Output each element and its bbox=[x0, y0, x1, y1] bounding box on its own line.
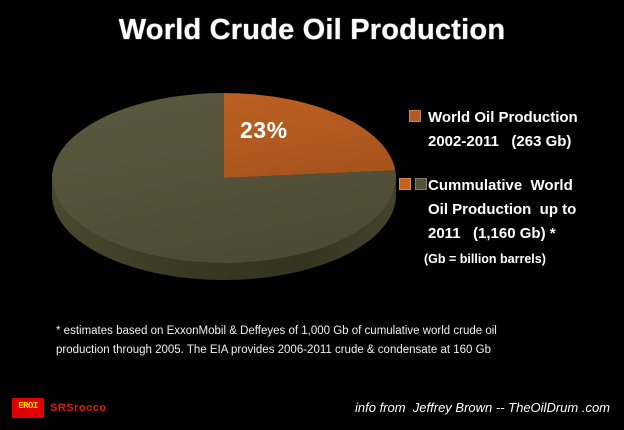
legend-swatch-olive-icon bbox=[415, 178, 427, 190]
legend-item-cumulative-world-oil-production[interactable]: Cummulative World Oil Production up to 2… bbox=[398, 174, 620, 246]
legend-line-1: Cummulative World bbox=[428, 174, 620, 198]
footnote-line-1: * estimates based on ExxonMobil & Deffey… bbox=[56, 322, 596, 341]
legend-line-2: Oil Production up to bbox=[428, 198, 620, 222]
bottom-bar: EROI SRSrocco info from Jeffrey Brown --… bbox=[0, 390, 624, 430]
logo-glyph-text: EROI bbox=[12, 402, 44, 411]
usa-map-icon: EROI bbox=[12, 398, 44, 418]
legend-item-label: World Oil Production 2002-2011 (263 Gb) bbox=[428, 106, 620, 154]
legend-item-label: Cummulative World Oil Production up to 2… bbox=[428, 174, 620, 246]
logo-wordmark: SRSrocco bbox=[50, 402, 107, 414]
legend-swatch-orange-icon bbox=[399, 178, 411, 190]
pie-chart-svg bbox=[40, 78, 410, 308]
legend-line-3: 2011 (1,160 Gb) * bbox=[428, 222, 620, 246]
footnote-line-2: production through 2005. The EIA provide… bbox=[56, 341, 596, 360]
pie-chart bbox=[40, 78, 410, 308]
srsrocco-logo[interactable]: EROI SRSrocco bbox=[12, 398, 107, 418]
footnote: * estimates based on ExxonMobil & Deffey… bbox=[56, 322, 596, 360]
chart-legend: World Oil Production 2002-2011 (263 Gb) … bbox=[398, 106, 620, 266]
page-title: World Crude Oil Production bbox=[0, 14, 624, 47]
attribution-text: info from Jeffrey Brown -- TheOilDrum .c… bbox=[355, 400, 610, 415]
legend-line-2: 2002-2011 (263 Gb) bbox=[428, 130, 620, 154]
legend-swatch-orange-icon bbox=[409, 110, 421, 122]
legend-units-note: (Gb = billion barrels) bbox=[424, 252, 620, 266]
slide-canvas: World Crude Oil Production bbox=[0, 0, 624, 430]
legend-line-1: World Oil Production bbox=[428, 106, 620, 130]
pie-slice-label-23: 23% bbox=[240, 117, 288, 144]
legend-item-world-oil-production[interactable]: World Oil Production 2002-2011 (263 Gb) bbox=[398, 106, 620, 154]
